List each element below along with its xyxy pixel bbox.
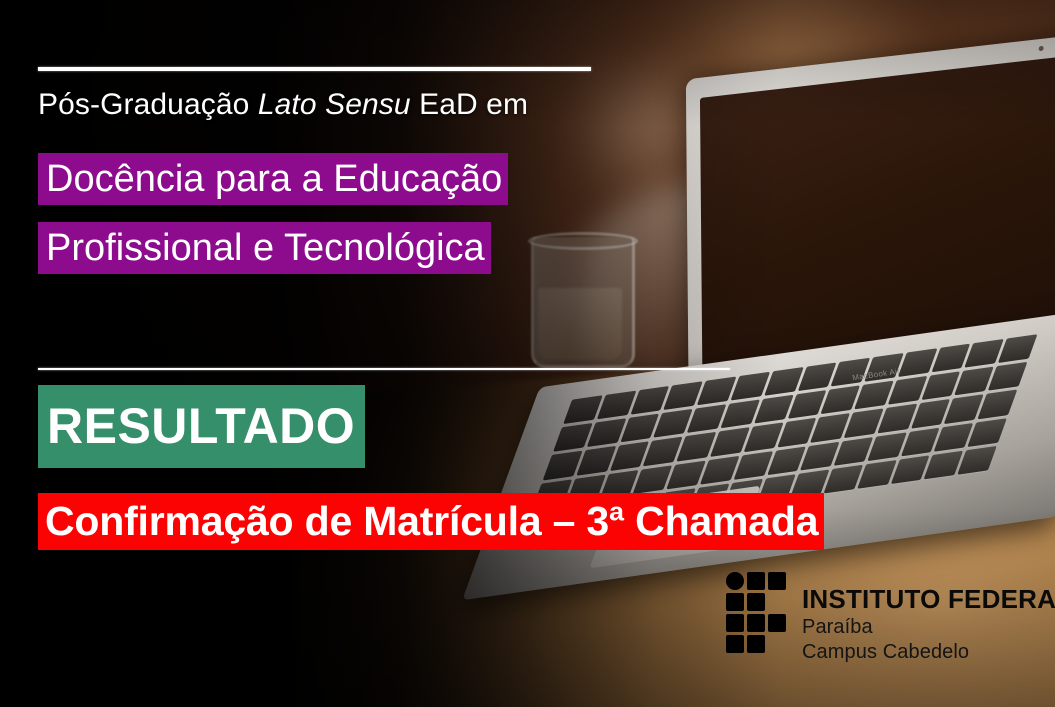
program-title-line-1: Docência para a Educação bbox=[38, 153, 508, 205]
result-badge: RESULTADO bbox=[38, 385, 365, 468]
logo-campus-name: Campus Cabedelo bbox=[802, 642, 1055, 662]
result-banner: Confirmação de Matrícula – 3ª Chamada bbox=[38, 493, 824, 550]
logo-institute-name: INSTITUTO FEDERAL bbox=[802, 586, 1055, 612]
poster-canvas: MacBook Air Pós-Graduação Lato Sensu EaD… bbox=[0, 0, 1055, 707]
top-divider-rule bbox=[38, 67, 591, 71]
program-kicker: Pós-Graduação Lato Sensu EaD em bbox=[38, 88, 528, 122]
ifpb-logo: INSTITUTO FEDERAL Paraíba Campus Cabedel… bbox=[726, 572, 1055, 662]
middle-divider-rule bbox=[38, 368, 730, 370]
kicker-suffix: EaD em bbox=[411, 88, 528, 121]
ifpb-logo-text: INSTITUTO FEDERAL Paraíba Campus Cabedel… bbox=[802, 572, 1055, 662]
logo-state-name: Paraíba bbox=[802, 617, 1055, 637]
kicker-italic: Lato Sensu bbox=[258, 88, 411, 121]
kicker-prefix: Pós-Graduação bbox=[38, 88, 258, 121]
ifpb-logo-mark-icon bbox=[726, 572, 788, 654]
program-title-line-2: Profissional e Tecnológica bbox=[38, 222, 491, 274]
poster-content: Pós-Graduação Lato Sensu EaD em Docência… bbox=[0, 0, 1055, 707]
